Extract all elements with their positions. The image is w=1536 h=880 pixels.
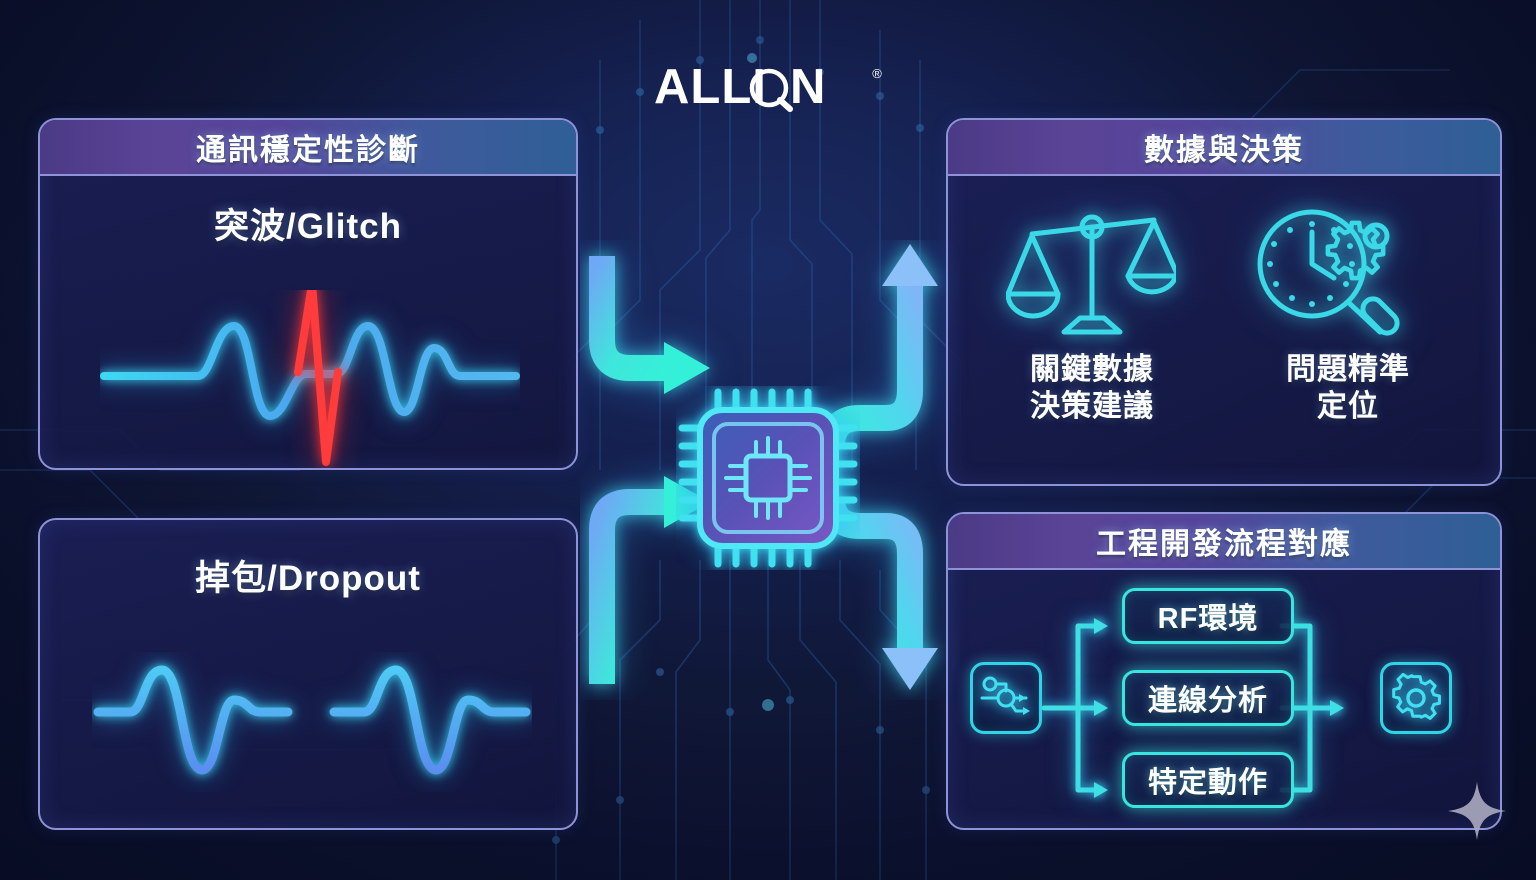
glitch-subtitle: 突波/Glitch [40, 198, 576, 249]
workflow-branch-icon-box [970, 662, 1042, 734]
dropout-subtitle: 掉包/Dropout [40, 550, 576, 601]
arrow-in-upper [602, 256, 710, 394]
label-key-data-decision: 關鍵數據 決策建議 [972, 352, 1212, 425]
panel-communication-stability: 通訊穩定性診斷 突波/Glitch [38, 118, 578, 470]
workflow-branch-icon [980, 673, 1032, 723]
balance-scale-icon [1006, 206, 1176, 346]
flow-step-specific-action[interactable]: 特定動作 [1122, 752, 1294, 808]
flow-step-label: 連線分析 [1148, 677, 1268, 719]
clock-magnifier-gear-icon [1248, 202, 1428, 350]
label-line-2: 決策建議 [972, 389, 1212, 426]
trademark-symbol: ® [872, 66, 882, 81]
panel-header-data-and-decision: 數據與決策 [948, 120, 1500, 176]
flow-step-label: 特定動作 [1148, 759, 1268, 801]
panel-header-engineering-flow: 工程開發流程對應 [948, 514, 1500, 570]
panel-header-communication-stability: 通訊穩定性診斷 [40, 120, 576, 176]
label-precise-problem-location: 問題精準 定位 [1228, 352, 1468, 425]
panel-data-and-decision: 數據與決策 [946, 118, 1502, 486]
flow-step-link-analysis[interactable]: 連線分析 [1122, 670, 1294, 726]
panel-title-text: 工程開發流程對應 [1096, 519, 1352, 563]
flow-step-rf-environment[interactable]: RF環境 [1122, 588, 1294, 644]
label-line-1: 關鍵數據 [972, 352, 1212, 389]
panel-dropout: 掉包/Dropout [38, 518, 578, 830]
panel-title-text: 數據與決策 [1144, 125, 1304, 169]
four-point-star-icon [1446, 780, 1508, 842]
panel-engineering-flow: 工程開發流程對應 [946, 512, 1502, 830]
label-line-2: 定位 [1228, 389, 1468, 426]
allion-wordmark-icon: ALLI N [654, 62, 868, 114]
glitch-waveform-icon [100, 290, 520, 470]
flow-step-label: RF環境 [1158, 595, 1259, 637]
panel-title-text: 通訊穩定性診斷 [196, 125, 420, 169]
infographic-canvas: ALLI N ® 通訊穩定性診斷 突波/Glitch [0, 0, 1536, 880]
dropout-waveform-icon [92, 652, 532, 792]
label-line-1: 問題精準 [1228, 352, 1468, 389]
allion-logo: ALLI N ® [0, 62, 1536, 114]
svg-text:N: N [790, 62, 826, 114]
cpu-chip-icon [676, 386, 860, 570]
